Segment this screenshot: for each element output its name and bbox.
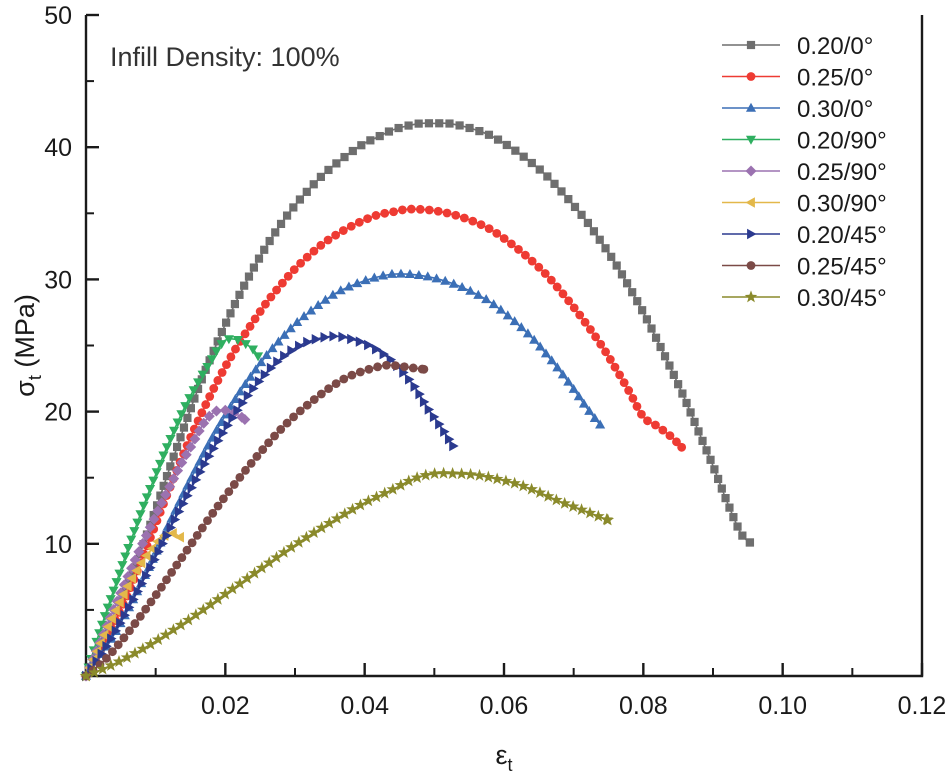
data-point-square — [690, 418, 698, 426]
data-point-triangle-right — [295, 341, 304, 352]
data-point-square — [324, 166, 332, 174]
data-point-circle — [331, 231, 340, 240]
data-point-circle — [324, 236, 333, 245]
data-point-triangle-right — [420, 397, 429, 408]
data-point-square — [577, 211, 585, 219]
data-point-square — [638, 306, 646, 314]
data-point-star — [411, 471, 424, 483]
data-point-circle — [102, 654, 111, 663]
data-point-square — [404, 121, 412, 129]
data-point-circle — [633, 402, 642, 411]
data-point-square — [652, 334, 660, 342]
data-point-circle — [615, 370, 624, 379]
data-point-triangle-right — [329, 331, 338, 342]
data-point-circle — [500, 234, 509, 243]
data-point-square — [721, 494, 729, 502]
data-point-circle — [296, 406, 305, 415]
data-point-circle — [443, 209, 452, 218]
data-point-circle — [425, 206, 434, 215]
data-point-circle — [272, 286, 281, 295]
data-point-square — [528, 159, 536, 167]
data-point-square — [718, 484, 726, 492]
data-point-square — [503, 141, 511, 149]
data-point-circle — [258, 445, 267, 454]
data-point-circle — [157, 583, 166, 592]
data-point-square — [714, 475, 722, 483]
x-tick-label: 0.08 — [619, 692, 668, 720]
data-point-triangle-right — [435, 419, 444, 430]
data-point-square — [317, 173, 325, 181]
y-tick-label: 40 — [44, 134, 72, 162]
data-point-triangle-right — [219, 428, 228, 439]
legend-item-0.30/0°[interactable]: 0.30/0° — [722, 96, 873, 123]
data-point-triangle-right — [321, 332, 330, 343]
data-point-circle — [581, 318, 590, 327]
data-point-circle — [261, 300, 270, 309]
data-point-square — [596, 236, 604, 244]
data-point-square — [613, 261, 621, 269]
data-point-circle — [485, 224, 494, 233]
data-point-square — [686, 408, 694, 416]
data-point-circle — [276, 425, 285, 434]
data-point-circle — [219, 494, 228, 503]
data-point-circle — [372, 211, 381, 220]
data-point-square — [725, 504, 733, 512]
data-point-circle — [559, 289, 568, 298]
data-point-triangle-down — [132, 519, 142, 528]
data-point-circle — [303, 253, 312, 262]
data-point-circle — [162, 575, 171, 584]
data-point-circle — [226, 352, 235, 361]
data-point-square — [564, 195, 572, 203]
data-point-circle — [247, 459, 256, 468]
data-point-square — [266, 237, 274, 245]
data-point-circle — [356, 368, 365, 377]
data-point-circle — [477, 220, 486, 229]
data-point-circle — [534, 263, 543, 272]
data-point-square — [465, 124, 473, 132]
data-point-circle — [310, 395, 319, 404]
data-point-square — [682, 399, 690, 407]
data-point-circle — [596, 340, 605, 349]
data-point-circle — [651, 421, 660, 430]
markers-layer — [80, 119, 754, 681]
data-point-square — [733, 522, 741, 530]
data-point-circle — [666, 431, 675, 440]
data-point-square — [231, 300, 239, 308]
x-tick-label: 0.06 — [480, 692, 529, 720]
data-point-square — [435, 119, 443, 127]
data-point-circle — [303, 401, 312, 410]
data-point-circle — [624, 386, 633, 395]
annotation-text: Infill Density: 100% — [110, 42, 340, 72]
legend-item-0.20/90°[interactable]: 0.20/90° — [722, 128, 887, 155]
data-point-triangle-right — [747, 229, 756, 240]
data-point-star — [500, 474, 513, 486]
data-point-square — [628, 288, 636, 296]
data-point-square — [395, 124, 403, 132]
data-point-star — [482, 471, 495, 483]
data-point-circle — [241, 466, 250, 475]
y-axis-title: σt (MPa) — [10, 294, 45, 397]
data-point-circle — [270, 432, 279, 441]
data-point-circle — [213, 376, 222, 385]
data-point-circle — [231, 345, 240, 354]
data-point-circle — [339, 375, 348, 384]
data-point-triangle-down — [142, 493, 152, 502]
data-point-circle — [218, 368, 227, 377]
data-point-triangle-down — [155, 460, 165, 469]
data-point-triangle-right — [312, 334, 321, 345]
data-point-square — [485, 131, 493, 139]
data-point-square — [674, 380, 682, 388]
data-point-circle — [147, 597, 156, 606]
data-point-circle — [355, 218, 364, 227]
data-point-circle — [264, 438, 273, 447]
data-point-circle — [570, 303, 579, 312]
y-tick-label: 20 — [44, 399, 72, 427]
data-point-circle — [591, 332, 600, 341]
data-point-square — [235, 291, 243, 299]
legend-item-0.30/90°[interactable]: 0.30/90° — [722, 191, 887, 218]
data-point-circle — [152, 590, 161, 599]
data-point-circle — [606, 355, 615, 364]
data-point-square — [494, 136, 502, 144]
data-point-circle — [363, 214, 372, 223]
data-point-square — [475, 127, 483, 135]
data-point-square — [536, 165, 544, 173]
data-point-circle — [419, 365, 428, 374]
data-point-square — [425, 119, 433, 127]
data-point-star — [491, 472, 504, 484]
data-point-star — [508, 477, 521, 489]
data-point-diamond — [746, 166, 757, 177]
data-point-circle — [601, 347, 610, 356]
data-point-triangle-up — [336, 285, 346, 294]
stress-strain-plot: 0.020.040.060.080.100.121020304050εtσt (… — [0, 0, 950, 777]
data-point-triangle-right — [347, 334, 356, 345]
data-point-triangle-down — [135, 510, 145, 519]
data-point-triangle-right — [338, 332, 347, 343]
legend-item-0.25/90°[interactable]: 0.25/90° — [722, 159, 887, 186]
legend-item-0.20/45°[interactable]: 0.20/45° — [722, 222, 887, 249]
data-point-square — [747, 41, 755, 49]
data-point-circle — [208, 509, 217, 518]
data-point-square — [183, 414, 191, 422]
x-axis-title: εt — [495, 740, 512, 775]
x-tick-label: 0.04 — [340, 692, 389, 720]
data-point-circle — [167, 568, 176, 577]
data-point-square — [661, 352, 669, 360]
data-point-circle — [136, 612, 145, 621]
data-point-circle — [188, 538, 197, 547]
data-point-circle — [251, 314, 260, 323]
data-point-square — [623, 279, 631, 287]
data-point-circle — [222, 360, 231, 369]
data-point-circle — [317, 390, 326, 399]
data-point-triangle-right — [224, 420, 233, 431]
data-point-circle — [224, 487, 233, 496]
data-point-square — [240, 282, 248, 290]
data-point-square — [511, 147, 519, 155]
data-point-circle — [747, 261, 756, 270]
series-markers-0.20/0° — [82, 119, 754, 680]
data-point-triangle-up — [489, 299, 499, 308]
data-point-circle — [120, 633, 129, 642]
data-point-triangle-down — [158, 452, 168, 461]
data-point-circle — [246, 322, 255, 331]
data-point-circle — [611, 363, 620, 372]
data-point-square — [670, 371, 678, 379]
data-point-square — [710, 465, 718, 473]
data-point-circle — [266, 293, 275, 302]
data-point-circle — [658, 426, 667, 435]
data-point-square — [415, 119, 423, 127]
data-point-square — [303, 188, 311, 196]
data-point-circle — [177, 553, 186, 562]
data-point-square — [357, 141, 365, 149]
data-point-square — [289, 203, 297, 211]
data-point-circle — [541, 269, 550, 278]
data-point-circle — [347, 371, 356, 380]
data-point-circle — [183, 546, 192, 555]
data-point-square — [445, 119, 453, 127]
data-point-triangle-down — [152, 468, 162, 477]
data-point-square — [520, 153, 528, 161]
data-point-square — [218, 328, 226, 336]
data-point-triangle-down — [123, 544, 133, 553]
data-point-triangle-right — [411, 381, 420, 392]
infill-density-annotation: Infill Density: 100% — [110, 42, 340, 72]
data-point-circle — [553, 283, 562, 292]
data-point-circle — [380, 209, 389, 218]
data-point-square — [656, 343, 664, 351]
data-point-triangle-right — [356, 336, 365, 347]
series-markers-0.30/0° — [81, 269, 605, 680]
data-point-circle — [125, 626, 134, 635]
y-tick-label: 30 — [44, 266, 72, 294]
data-point-star — [428, 467, 441, 479]
data-point-triangle-left — [745, 197, 754, 208]
data-point-circle — [643, 416, 652, 425]
data-point-circle — [316, 241, 325, 250]
legend-label: 0.25/45° — [797, 254, 887, 281]
data-point-circle — [514, 245, 523, 254]
data-point-triangle-down — [114, 570, 124, 579]
data-point-square — [349, 147, 357, 155]
data-point-circle — [564, 296, 573, 305]
y-tick-label: 10 — [44, 531, 72, 559]
data-point-circle — [677, 443, 686, 452]
chart-figure: 0.020.040.060.080.100.121020304050εtσt (… — [0, 0, 950, 777]
data-point-triangle-down — [120, 553, 130, 562]
data-point-square — [607, 253, 615, 261]
x-tick-label: 0.12 — [898, 692, 947, 720]
data-point-circle — [620, 378, 629, 387]
data-point-square — [557, 187, 565, 195]
data-point-square — [376, 132, 384, 140]
data-point-square — [633, 297, 641, 305]
data-point-square — [296, 195, 304, 203]
data-point-triangle-down — [162, 443, 172, 452]
data-point-square — [385, 127, 393, 135]
data-point-circle — [460, 214, 469, 223]
data-point-square — [584, 219, 592, 227]
data-point-square — [271, 228, 279, 236]
data-point-square — [643, 315, 651, 323]
data-point-square — [455, 121, 463, 129]
data-point-circle — [332, 379, 341, 388]
data-point-triangle-up — [465, 286, 475, 295]
x-tick-label: 0.02 — [201, 692, 250, 720]
data-point-triangle-right — [440, 426, 449, 437]
data-point-circle — [256, 307, 265, 316]
data-point-square — [571, 203, 579, 211]
data-point-circle — [347, 222, 356, 231]
data-point-square — [678, 389, 686, 397]
series-markers-0.20/45° — [82, 331, 459, 681]
data-point-square — [340, 153, 348, 161]
data-point-square — [746, 538, 754, 546]
data-point-square — [332, 159, 340, 167]
y-tick-label: 50 — [44, 2, 72, 30]
data-point-circle — [131, 619, 140, 628]
data-point-square — [665, 361, 673, 369]
data-point-circle — [205, 392, 214, 401]
data-point-circle — [416, 205, 425, 214]
data-point-triangle-right — [449, 441, 458, 452]
data-point-square — [729, 513, 737, 521]
legend-label: 0.30/90° — [797, 191, 887, 218]
legend-label: 0.20/45° — [797, 222, 887, 249]
data-point-circle — [373, 362, 382, 371]
data-point-star — [473, 469, 486, 481]
data-point-circle — [434, 207, 443, 216]
legend-item-0.25/45°[interactable]: 0.25/45° — [722, 254, 887, 281]
data-point-square — [222, 319, 230, 327]
data-point-square — [706, 456, 714, 464]
legend-item-0.30/45°[interactable]: 0.30/45° — [722, 285, 887, 312]
data-point-circle — [114, 640, 123, 649]
data-point-circle — [172, 561, 181, 570]
data-point-triangle-down — [148, 477, 158, 486]
legend-item-0.25/0°[interactable]: 0.25/0° — [722, 65, 873, 92]
data-point-circle — [193, 531, 202, 540]
data-point-square — [277, 220, 285, 228]
x-tick-label: 0.10 — [758, 692, 807, 720]
legend-label: 0.20/0° — [797, 33, 873, 60]
legend-label: 0.30/0° — [797, 96, 873, 123]
data-point-circle — [382, 361, 391, 370]
data-point-triangle-down — [139, 502, 149, 511]
data-point-circle — [203, 516, 212, 525]
data-point-circle — [747, 72, 756, 81]
data-point-circle — [628, 394, 637, 403]
data-point-triangle-up — [313, 300, 323, 309]
data-point-triangle-down — [129, 527, 139, 536]
data-point-square — [702, 446, 710, 454]
data-point-square — [366, 136, 374, 144]
data-point-circle — [389, 207, 398, 216]
data-point-circle — [521, 251, 530, 260]
data-point-square — [601, 244, 609, 252]
data-point-circle — [492, 229, 501, 238]
data-point-square — [590, 227, 598, 235]
data-point-square — [647, 324, 655, 332]
data-point-triangle-down — [117, 561, 127, 570]
data-point-triangle-down — [126, 536, 136, 545]
data-point-triangle-down — [165, 435, 175, 444]
data-point-square — [260, 246, 268, 254]
data-point-circle — [547, 276, 556, 285]
data-point-circle — [230, 480, 239, 489]
data-point-circle — [400, 362, 409, 371]
data-point-circle — [451, 211, 460, 220]
data-point-circle — [214, 502, 223, 511]
legend-item-0.20/0°[interactable]: 0.20/0° — [722, 33, 873, 60]
data-point-circle — [391, 361, 400, 370]
data-point-square — [738, 532, 746, 540]
data-point-square — [283, 211, 291, 219]
data-point-circle — [407, 205, 416, 214]
data-point-circle — [209, 384, 218, 393]
data-point-circle — [586, 325, 595, 334]
data-point-circle — [296, 259, 305, 268]
data-point-square — [310, 180, 318, 188]
data-point-circle — [235, 473, 244, 482]
data-point-circle — [528, 257, 537, 266]
data-point-square — [543, 172, 551, 180]
legend[interactable]: 0.20/0°0.25/0°0.30/0°0.20/90°0.25/90°0.3… — [722, 33, 887, 312]
data-point-square — [176, 433, 184, 441]
data-point-circle — [575, 311, 584, 320]
data-point-triangle-right — [303, 337, 312, 348]
data-point-circle — [637, 410, 646, 419]
data-point-square — [255, 255, 263, 263]
data-point-circle — [507, 239, 516, 248]
data-point-circle — [198, 524, 207, 533]
data-point-circle — [324, 384, 333, 393]
data-point-circle — [201, 400, 210, 409]
data-point-circle — [284, 272, 293, 281]
legend-label: 0.25/90° — [797, 159, 887, 186]
data-point-star — [745, 290, 758, 302]
data-point-circle — [108, 647, 117, 656]
data-point-circle — [289, 412, 298, 421]
data-point-circle — [283, 419, 292, 428]
data-point-circle — [141, 605, 150, 614]
data-point-circle — [252, 452, 261, 461]
data-point-square — [173, 443, 181, 451]
data-point-square — [250, 263, 258, 271]
data-point-circle — [365, 365, 374, 374]
data-point-triangle-down — [145, 485, 155, 494]
data-point-square — [180, 423, 188, 431]
data-point-square — [694, 427, 702, 435]
data-point-circle — [398, 206, 407, 215]
legend-label: 0.30/45° — [797, 285, 887, 312]
data-point-square — [550, 180, 558, 188]
data-point-triangle-up — [320, 295, 330, 304]
legend-label: 0.20/90° — [797, 128, 887, 155]
data-point-square — [245, 272, 253, 280]
data-point-circle — [468, 217, 477, 226]
data-point-circle — [409, 364, 418, 373]
data-point-circle — [310, 247, 319, 256]
data-point-square — [618, 270, 626, 278]
data-point-circle — [290, 265, 299, 274]
data-point-square — [698, 437, 706, 445]
